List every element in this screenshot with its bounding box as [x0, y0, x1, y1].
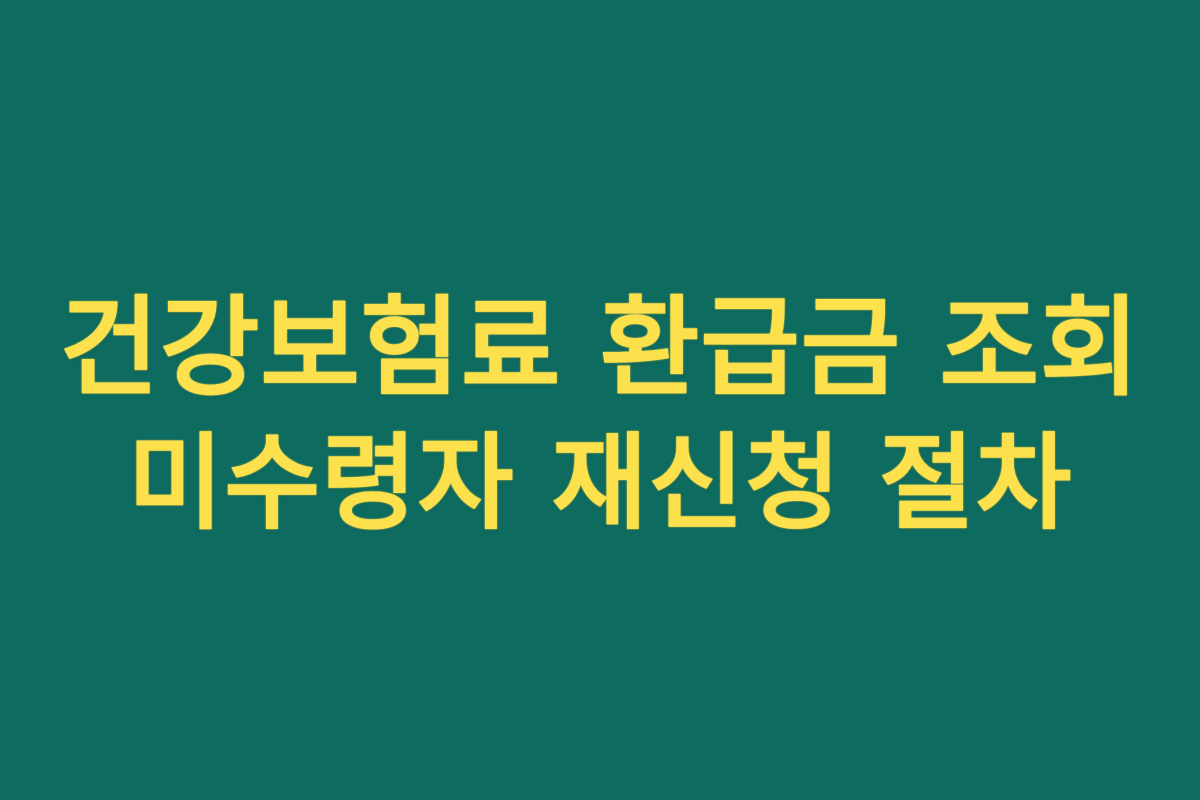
headline-block: 건강보험료 환급금 조회 미수령자 재신청 절차: [0, 282, 1200, 550]
headline-line-1: 건강보험료 환급금 조회: [60, 282, 1141, 416]
banner-canvas: 건강보험료 환급금 조회 미수령자 재신청 절차: [0, 0, 1200, 800]
headline-line-2: 미수령자 재신청 절차: [128, 416, 1073, 550]
